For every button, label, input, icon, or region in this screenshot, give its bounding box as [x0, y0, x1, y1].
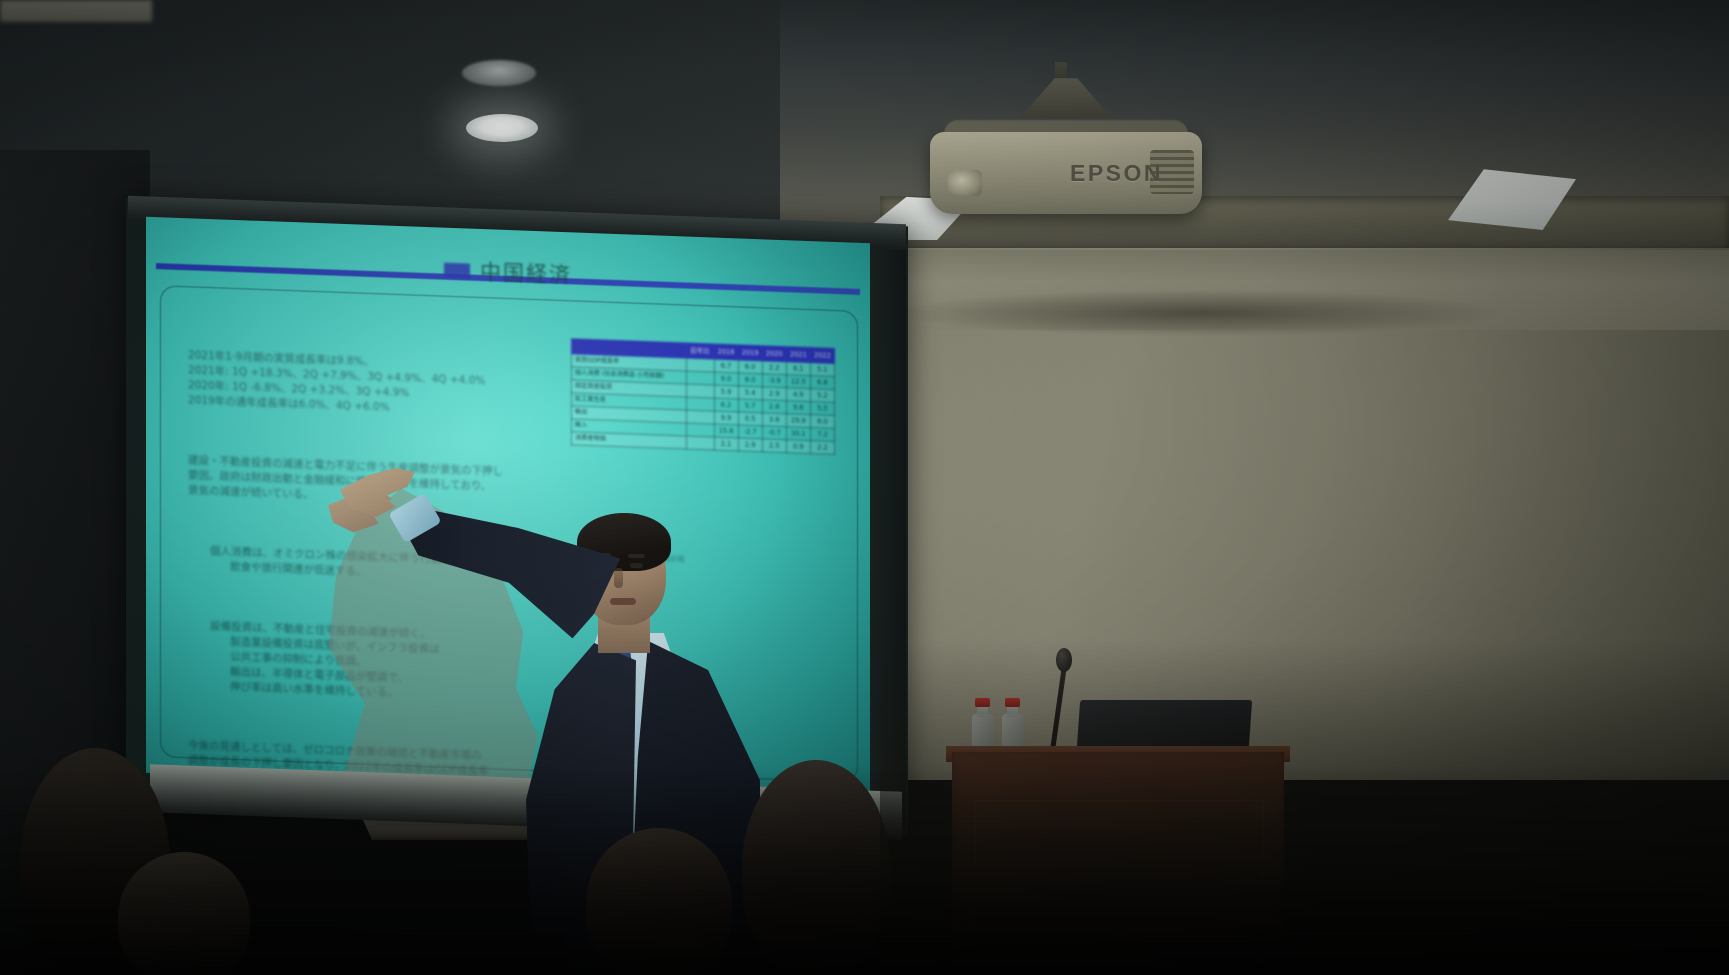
table-cell: [686, 410, 714, 424]
table-cell: 12.5: [786, 375, 810, 389]
slide-data-table: 前年比20182019202020212022 実質GDP成長率6.76.02.…: [571, 338, 835, 455]
downlight-ring-icon: [462, 60, 536, 86]
presenter-eyebrow-right: [628, 554, 645, 558]
table-cell: 2.1: [714, 437, 738, 451]
table-cell: 8.1: [786, 362, 810, 376]
table-cell: 2.9: [762, 387, 786, 401]
audience-head: [118, 852, 250, 975]
table-cell: 29.9: [786, 414, 810, 428]
cove-shadow: [900, 290, 1500, 336]
table-cell: 8.0: [810, 415, 834, 429]
audience-head: [742, 760, 890, 975]
table-cell: [686, 384, 714, 398]
table-cell: 15.8: [714, 424, 738, 438]
table-cell: 2.2: [762, 361, 786, 375]
table-cell: 3.6: [762, 413, 786, 427]
table-cell: 6.2: [714, 398, 738, 412]
table-cell: [686, 423, 714, 437]
table-column-header: 2018: [714, 344, 738, 360]
table-cell: 7.2: [810, 428, 834, 442]
slide-paragraph: 2021年1-9月期の実質成長率は9.8%。 2021年: 1Q +18.3%、…: [188, 348, 588, 423]
table-cell: 2.2: [810, 441, 834, 455]
table-cell: 5.2: [810, 389, 834, 403]
table-cell: 5.4: [738, 386, 762, 400]
table-column-header: 2019: [738, 345, 762, 361]
table-cell: 30.1: [786, 427, 810, 441]
table-column-header: 前年比: [686, 343, 714, 359]
table-cell: 8.0: [738, 373, 762, 387]
table-cell: [686, 397, 714, 411]
presentation-room-photo: EPSON 中国経済 2021年1-9月期の実質成長率は9.8%。 2021年:…: [0, 0, 1729, 975]
table-cell: 2.5: [762, 439, 786, 453]
table-column-header: 2020: [762, 346, 786, 362]
table-cell: [686, 436, 714, 450]
presenter-mouth: [610, 598, 636, 605]
table-cell: 6.0: [738, 360, 762, 374]
table-cell: -0.7: [762, 426, 786, 440]
audience-head: [586, 828, 732, 975]
table-cell: 0.5: [738, 412, 762, 426]
presenter-eye-right: [630, 563, 643, 568]
presenter-nose: [614, 568, 623, 588]
table-cell: 9.9: [714, 411, 738, 425]
table-column-header: 2022: [810, 348, 834, 364]
table-cell: 2.9: [738, 438, 762, 452]
table-cell: 5.1: [810, 363, 834, 377]
slide-title-marker-icon: [444, 262, 470, 278]
table-cell: 5.7: [738, 399, 762, 413]
projector-lens-icon: [948, 170, 982, 196]
table-cell: -3.9: [762, 374, 786, 388]
table-cell: [686, 358, 714, 372]
table-cell: 9.6: [786, 401, 810, 415]
table-cell: 5.9: [714, 385, 738, 399]
ceiling-recess-strip: [0, 0, 152, 22]
table-cell: 6.7: [714, 359, 738, 373]
round-downlight-icon: [466, 114, 538, 142]
table-body: 実質GDP成長率6.76.02.28.15.1個人消費 (社会消費品 小売総額)…: [572, 354, 835, 455]
table-cell: 9.0: [714, 372, 738, 386]
table-cell: 5.5: [810, 402, 834, 416]
slide-title-text: 中国経済: [480, 256, 572, 289]
table-cell: 2.8: [762, 400, 786, 414]
table-column-header: 2021: [786, 347, 810, 363]
table-cell: -2.7: [738, 425, 762, 439]
projector-brand-label: EPSON: [1070, 160, 1163, 187]
right-wall-shadow: [880, 640, 1729, 975]
table-cell: 0.9: [786, 440, 810, 454]
table-cell: [686, 371, 714, 385]
table-cell: 4.9: [786, 388, 810, 402]
table-cell: 6.8: [810, 376, 834, 390]
